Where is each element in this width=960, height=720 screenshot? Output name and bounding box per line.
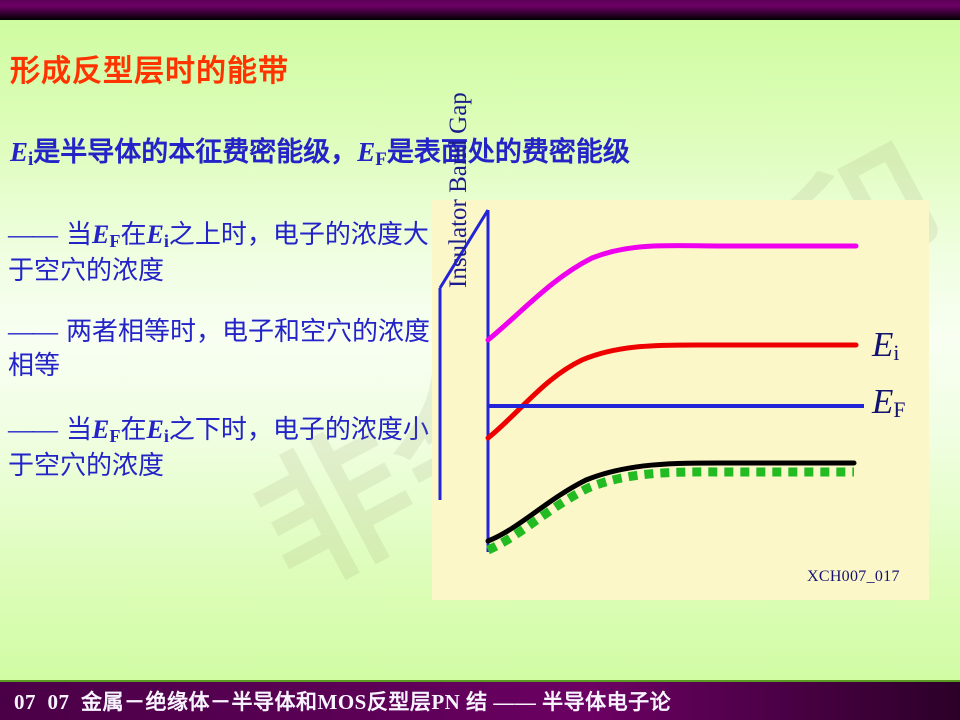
list-item: ——当EF在Ei之上时，电子的浓度大于空穴的浓度 (8, 218, 433, 287)
label-ef-subscript: F (893, 398, 905, 422)
subtitle-var-ef: E (357, 137, 375, 167)
page-title: 形成反型层时的能带 (10, 46, 289, 90)
conduction-band-curve (488, 246, 856, 340)
footer-title: 金属－绝缘体－半导体和MOS反型层PN 结 —— 半导体电子论 (81, 690, 671, 714)
bullet-dash: —— (8, 317, 56, 346)
valence-band-curve (488, 463, 854, 541)
footer-section-number: 07 (48, 690, 70, 714)
footer-chapter-number: 07 (14, 690, 36, 714)
subtitle-mid-text: 是半导体的本征费密能级， (33, 137, 357, 167)
label-ef-letter: E (872, 382, 893, 421)
figure-code: XCH007_017 (807, 568, 900, 586)
band-diagram-svg (432, 200, 929, 600)
bullet-text-part1: 两者相等时，电子和空穴的浓度相等 (8, 317, 430, 380)
subtitle-var-ei: E (10, 137, 28, 167)
label-ei-subscript: i (893, 341, 899, 365)
bullet-var-1: E (92, 415, 109, 444)
subtitle-line: Ei是半导体的本征费密能级，EF是表面处的费密能级 (10, 130, 630, 171)
label-ei-letter: E (872, 325, 893, 364)
list-item: ——两者相等时，电子和空穴的浓度相等 (8, 315, 433, 384)
top-decoration-bar (0, 0, 960, 20)
bullet-dash: —— (8, 415, 56, 444)
energy-band-figure: Insulator Band Gap Ei EF XCH007_017 (432, 200, 929, 600)
bullet-text-part2: 在 (120, 220, 146, 249)
bullet-var-2: E (147, 220, 164, 249)
bullet-var-2: E (147, 415, 164, 444)
footer-bar: 07 07 金属－绝缘体－半导体和MOS反型层PN 结 —— 半导体电子论 (0, 680, 960, 720)
intrinsic-level-curve (488, 345, 856, 438)
bullet-list: ——当EF在Ei之上时，电子的浓度大于空穴的浓度 ——两者相等时，电子和空穴的浓… (8, 218, 433, 510)
slide-root: 形成反型层时的能带 Ei是半导体的本征费密能级，EF是表面处的费密能级 ——当E… (0, 0, 960, 720)
list-item: ——当EF在Ei之下时，电子的浓度小于空穴的浓度 (8, 413, 433, 482)
bullet-text-part1: 当 (66, 220, 92, 249)
subtitle-var-ef-sub: F (375, 149, 387, 170)
bullet-var-1-sub: F (109, 426, 120, 446)
footer-text: 07 07 金属－绝缘体－半导体和MOS反型层PN 结 —— 半导体电子论 (14, 686, 671, 716)
subtitle-tail-text: 是表面处的费密能级 (387, 137, 630, 167)
bullet-var-1: E (92, 220, 109, 249)
bullet-text-part2: 在 (120, 415, 146, 444)
bullet-var-1-sub: F (109, 231, 120, 251)
inversion-layer-dashed (488, 472, 854, 550)
insulator-band-gap-label: Insulator Band Gap (445, 0, 473, 288)
label-ei: Ei (872, 325, 899, 366)
bullet-text-part1: 当 (66, 415, 92, 444)
bullet-dash: —— (8, 220, 56, 249)
label-ef: EF (872, 382, 905, 423)
